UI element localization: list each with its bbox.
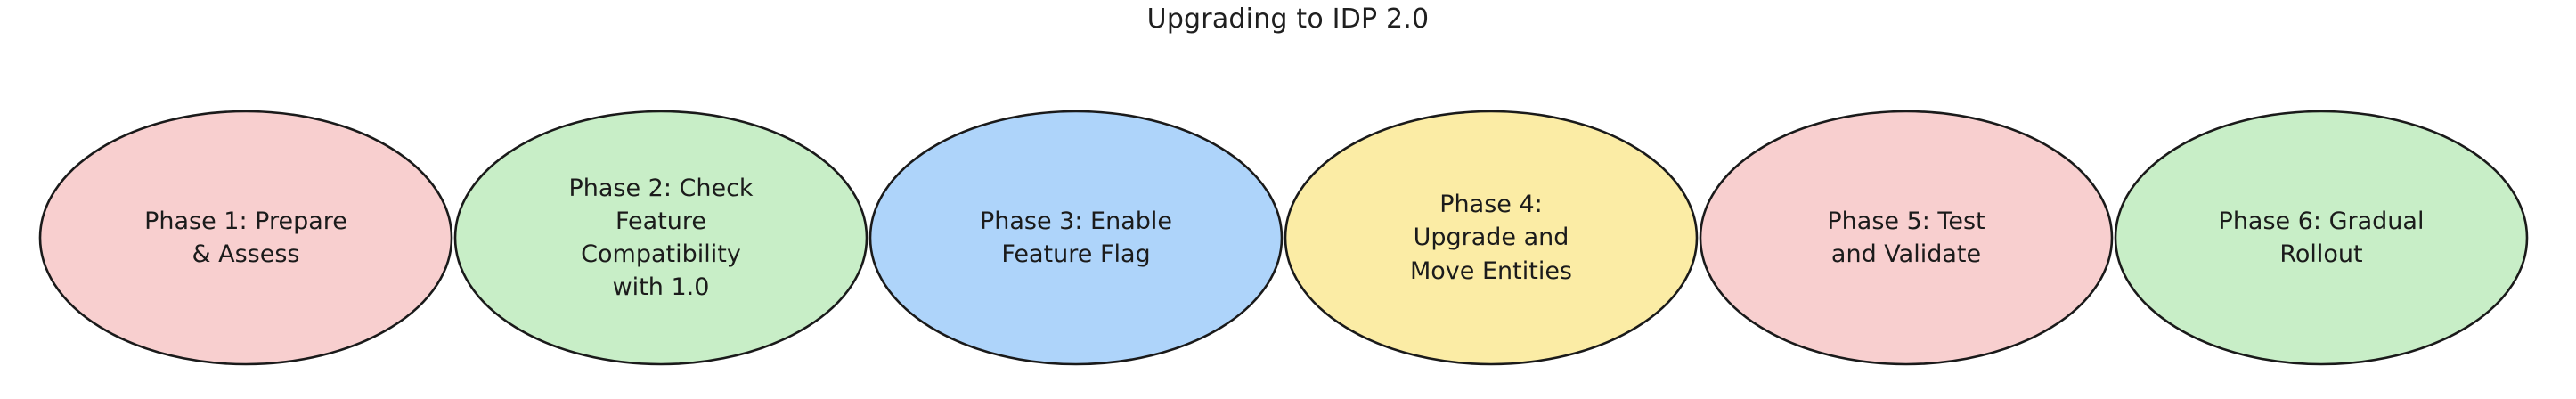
phase-node-ellipse	[453, 110, 868, 366]
flowchart-canvas: Upgrading to IDP 2.0 Phase 1: Prepare& A…	[0, 0, 2576, 399]
phase-node-6[interactable]: Phase 6: GradualRollout	[2114, 110, 2529, 366]
phase-node-row: Phase 1: Prepare& AssessPhase 2: CheckFe…	[38, 109, 2523, 367]
phase-node-ellipse	[868, 110, 1284, 366]
phase-node-ellipse	[1699, 110, 2114, 366]
phase-node-4[interactable]: Phase 4:Upgrade andMove Entities	[1284, 110, 1699, 366]
phase-node-3[interactable]: Phase 3: EnableFeature Flag	[868, 110, 1284, 366]
phase-node-5[interactable]: Phase 5: Testand Validate	[1699, 110, 2114, 366]
diagram-title: Upgrading to IDP 2.0	[0, 4, 2576, 35]
phase-node-1[interactable]: Phase 1: Prepare& Assess	[38, 110, 453, 366]
phase-node-2[interactable]: Phase 2: CheckFeatureCompatibilitywith 1…	[453, 110, 868, 366]
phase-node-ellipse	[38, 110, 453, 366]
phase-node-ellipse	[1284, 110, 1699, 366]
phase-node-ellipse	[2114, 110, 2529, 366]
